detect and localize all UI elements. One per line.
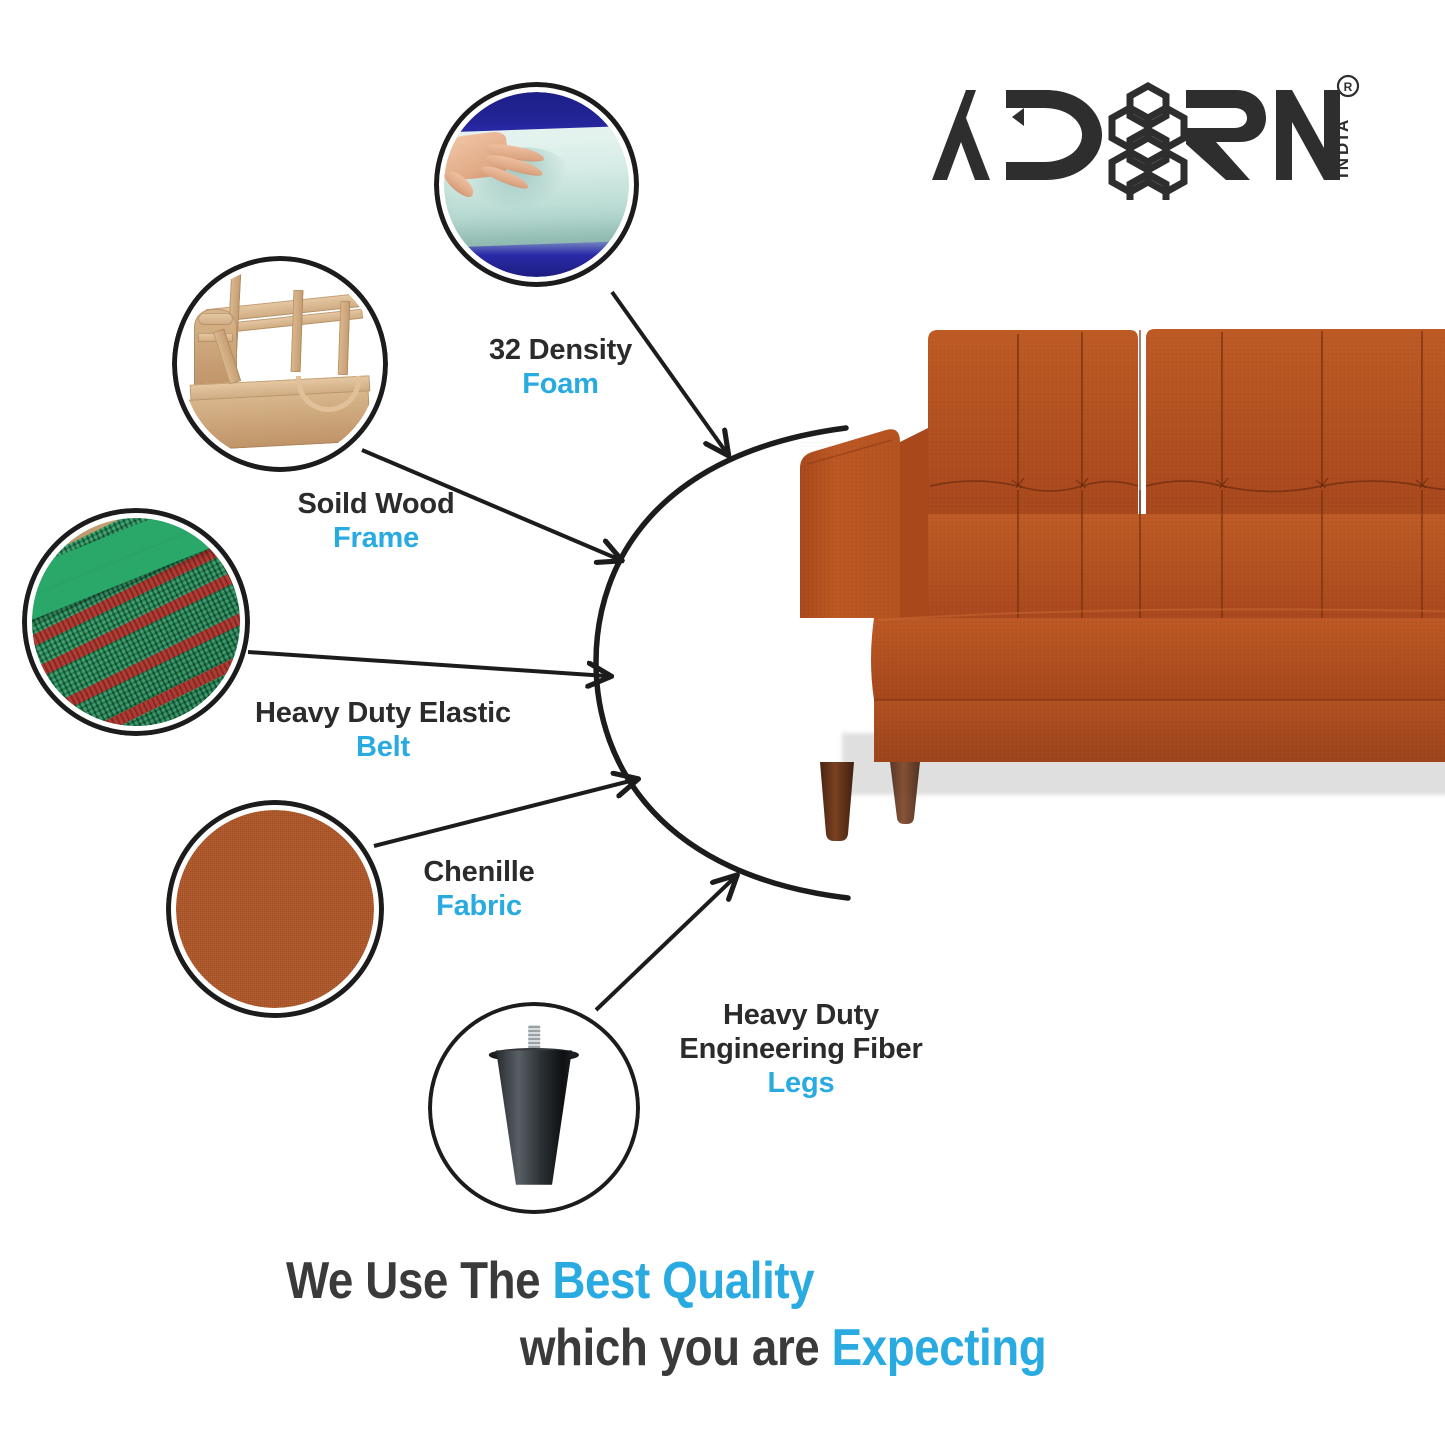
feature-belt-line1: Heavy Duty Elastic [255,697,511,729]
sofa-leg-thumbnail [428,1002,640,1214]
tagline: We Use The Best Quality which you are Ex… [0,1248,1100,1381]
tagline-line1-highlight: Best Quality [552,1252,814,1310]
tagline-line-2: which you are Expecting [0,1315,1100,1382]
foam-press-thumbnail [434,82,639,287]
svg-text:INDIA: INDIA [1333,117,1352,178]
feature-belt-line2: Belt [356,731,410,763]
tagline-line2-plain: which you are [520,1319,832,1377]
svg-text:R: R [1344,80,1353,94]
feature-foam-line1: 32 Density [489,334,632,366]
sofa-image [782,318,1445,898]
feature-frame-line1: Soild Wood [298,488,455,520]
feature-label-foam: 32 Density Foam [443,333,678,401]
fabric-swatch-thumbnail [166,800,384,1018]
feature-label-fabric: Chenille Fabric [388,855,570,923]
tagline-line2-highlight: Expecting [831,1319,1046,1377]
feature-foam-line2: Foam [522,368,599,400]
feature-frame-line2: Frame [333,522,419,554]
adorn-india-logo: INDIA R [920,70,1360,200]
feature-legs-line1: Heavy Duty [723,999,879,1031]
feature-legs-line2: Legs [768,1067,835,1099]
feature-label-legs: Heavy Duty Engineering Fiber Legs [660,998,942,1101]
feature-fabric-line1: Chenille [423,856,534,888]
elastic-belt-thumbnail [22,508,250,736]
wood-frame-thumbnail [172,256,388,472]
feature-label-belt: Heavy Duty Elastic Belt [238,696,528,764]
infographic-canvas: INDIA R [0,0,1445,1445]
tagline-line-1: We Use The Best Quality [0,1248,1100,1315]
feature-fabric-line2: Fabric [436,890,522,922]
feature-label-frame: Soild Wood Frame [262,487,490,555]
feature-legs-line1b: Engineering Fiber [679,1033,922,1065]
tagline-line1-plain: We Use The [286,1252,552,1310]
